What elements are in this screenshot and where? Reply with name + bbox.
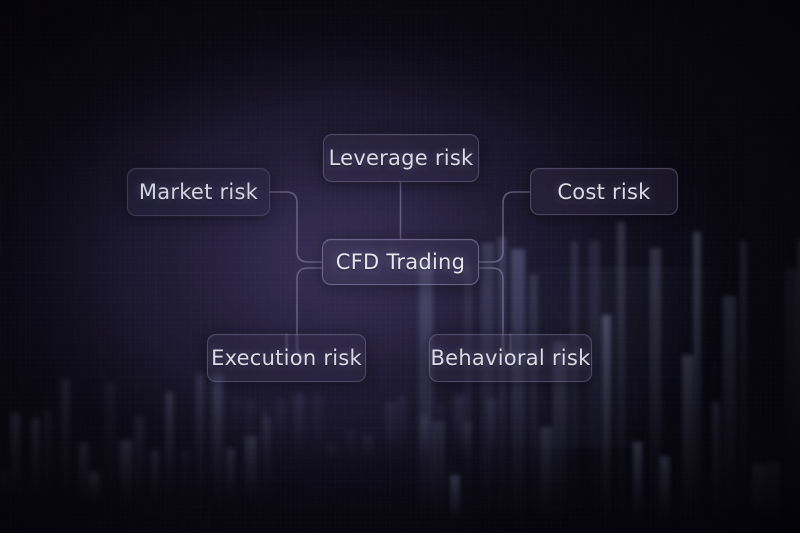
node-label: CFD Trading [336,250,465,274]
connector-cost-to-center [479,192,530,262]
node-cost-risk[interactable]: Cost risk [530,168,678,215]
node-label: Market risk [139,180,258,204]
node-market-risk[interactable]: Market risk [127,168,270,216]
node-behavioral-risk[interactable]: Behavioral risk [429,334,592,382]
connector-market-to-center [270,192,322,262]
diagram-canvas: Leverage risk Market risk Cost risk CFD … [0,0,800,533]
node-label: Execution risk [211,346,362,370]
node-label: Behavioral risk [431,346,591,370]
node-cfd-trading[interactable]: CFD Trading [322,239,479,285]
node-label: Leverage risk [329,146,474,170]
node-execution-risk[interactable]: Execution risk [207,334,366,382]
node-leverage-risk[interactable]: Leverage risk [323,134,479,182]
node-label: Cost risk [557,180,650,204]
